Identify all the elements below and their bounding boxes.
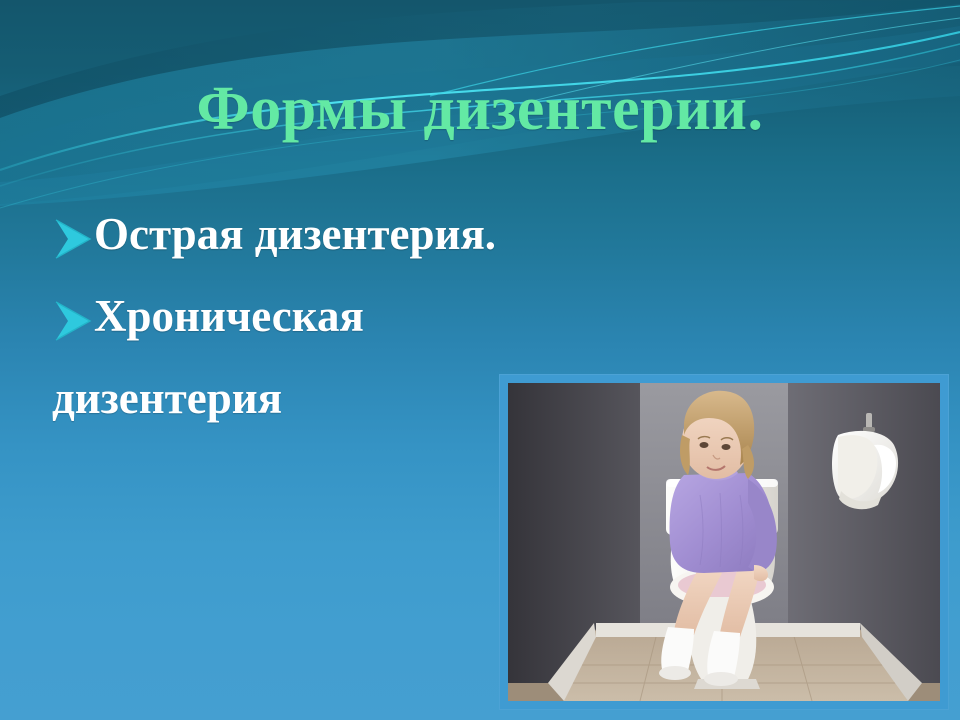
arrow-bullet-icon	[52, 216, 94, 262]
list-item: Хроническая	[52, 294, 672, 340]
photo-frame	[499, 374, 949, 710]
list-item: Острая дизентерия.	[52, 212, 672, 258]
list-item-label: дизентерия	[52, 376, 282, 421]
presentation-slide: Формы дизентерии. Острая дизентерия. Хро…	[0, 0, 960, 720]
slide-title: Формы дизентерии.	[0, 74, 960, 145]
list-item-label: Острая дизентерия.	[94, 212, 496, 257]
toddler-on-toilet-photo	[508, 383, 940, 701]
list-item-label: Хроническая	[94, 294, 364, 339]
arrow-bullet-icon	[52, 298, 94, 344]
